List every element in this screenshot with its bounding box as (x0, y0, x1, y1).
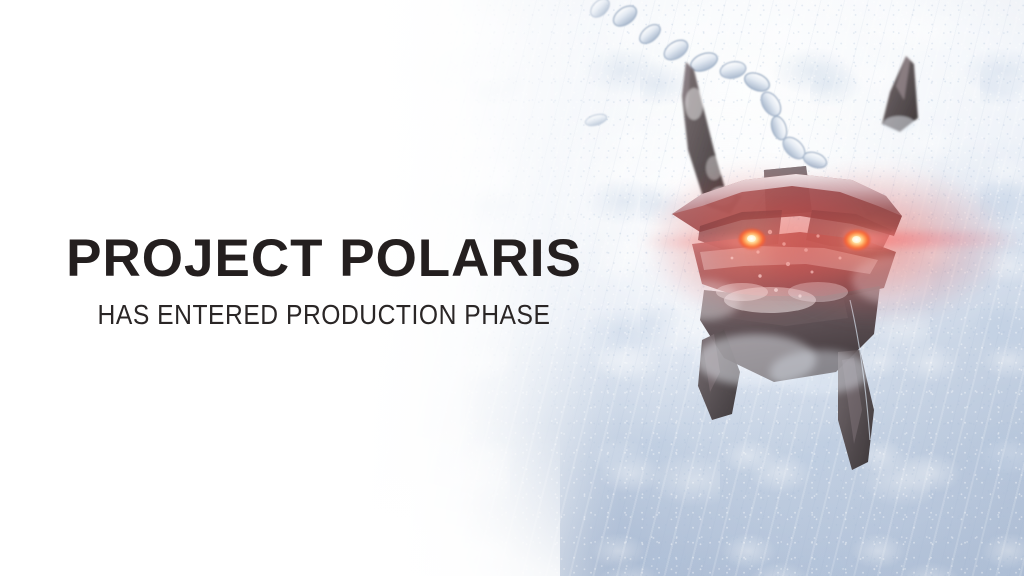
page-title: PROJECT POLARIS (0, 232, 648, 285)
right-eye-core (852, 236, 861, 243)
page-subtitle: HAS ENTERED PRODUCTION PHASE (39, 301, 609, 329)
left-eye-core (747, 235, 756, 242)
announcement-banner: PROJECT POLARIS HAS ENTERED PRODUCTION P… (0, 0, 1024, 576)
right-spike-fin (882, 56, 918, 132)
right-eye-light-streak (846, 232, 1024, 247)
announcement-text-block: PROJECT POLARIS HAS ENTERED PRODUCTION P… (0, 232, 648, 329)
